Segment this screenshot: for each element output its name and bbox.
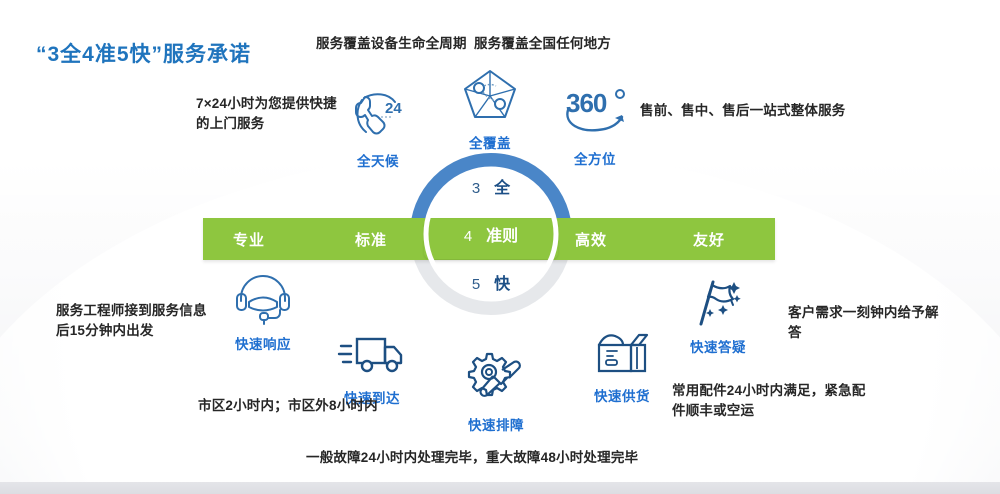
caption-one-stop-service: 售前、售中、售后一站式整体服务 xyxy=(640,101,846,121)
icon-label-fast-answer: 快速答疑 xyxy=(672,336,764,356)
green-item-efficient: 高效 xyxy=(575,229,607,250)
delivery-truck-icon xyxy=(327,333,417,384)
page-title: “3全4准5快”服务承诺 xyxy=(36,38,251,68)
ring-row-5-kuai: 5快 xyxy=(405,270,577,294)
bottom-edge-strip xyxy=(0,482,1000,494)
caption-fault-resolution: 一般故障24小时内处理完毕，重大故障48小时处理完毕 xyxy=(306,448,638,468)
icon-block-fast-repair[interactable]: 快速排障 xyxy=(450,352,542,434)
open-box-icon xyxy=(576,329,668,382)
pentagon-network-icon xyxy=(448,66,532,129)
icon-label-fast-supply: 快速供货 xyxy=(576,385,668,405)
caption-coverage-nationwide: 服务覆盖全国任何地方 xyxy=(474,34,611,54)
green-item-friendly: 友好 xyxy=(693,229,725,250)
gear-screwdriver-icon xyxy=(450,352,542,411)
caption-spare-parts: 常用配件24小时内满足，紧急配 件顺丰或空运 xyxy=(672,381,866,421)
icon-block-fast-response[interactable]: 快速响应 xyxy=(218,273,308,353)
icon-block-fast-answer[interactable]: 快速答疑 xyxy=(672,276,764,356)
caption-dispatch-15min: 服务工程师接到服务信息 后15分钟内出发 xyxy=(56,301,207,341)
caption-answer-quarter-hour: 客户需求一刻钟内给予解 答 xyxy=(788,303,939,343)
infographic-canvas: “3全4准5快”服务承诺 服务覆盖设备生命全周期 服务覆盖全国任何地方 7×24… xyxy=(0,0,1000,494)
caption-247-service: 7×24小时为您提供快捷 的上门服务 xyxy=(196,94,337,134)
flag-sparkle-icon xyxy=(672,276,764,333)
svg-text:360: 360 xyxy=(566,88,607,118)
green-item-standard: 标准 xyxy=(355,229,387,250)
ring-text-zhunze: 准则 xyxy=(486,228,518,245)
green-item-professional: 专业 xyxy=(233,229,265,250)
icon-label-fast-repair: 快速排障 xyxy=(450,414,542,434)
ring-num-4: 4 xyxy=(464,228,472,245)
headset-icon xyxy=(218,273,308,330)
svg-text:24: 24 xyxy=(385,100,402,117)
ring-num-5: 5 xyxy=(472,276,480,293)
icon-block-fast-supply[interactable]: 快速供货 xyxy=(576,329,668,405)
phone-24-icon: 24 xyxy=(336,86,420,147)
ring-text-quan: 全 xyxy=(494,180,510,197)
icon-label-fast-response: 快速响应 xyxy=(218,333,308,353)
icon-block-full-coverage[interactable]: 全覆盖 xyxy=(448,66,532,152)
caption-coverage-lifecycle: 服务覆盖设备生命全周期 xyxy=(316,34,467,54)
ring-row-4-zhunze: 4准则 xyxy=(405,222,577,246)
caption-arrival-hours: 市区2小时内；市区外8小时内 xyxy=(198,396,378,416)
ring-text-kuai: 快 xyxy=(494,276,510,293)
ring-num-3: 3 xyxy=(472,180,480,197)
ring-row-3-quan: 3全 xyxy=(405,174,577,198)
360-arrow-icon: 360 xyxy=(552,84,638,145)
center-ring-rows: 3全 4准则 5快 xyxy=(405,148,577,320)
